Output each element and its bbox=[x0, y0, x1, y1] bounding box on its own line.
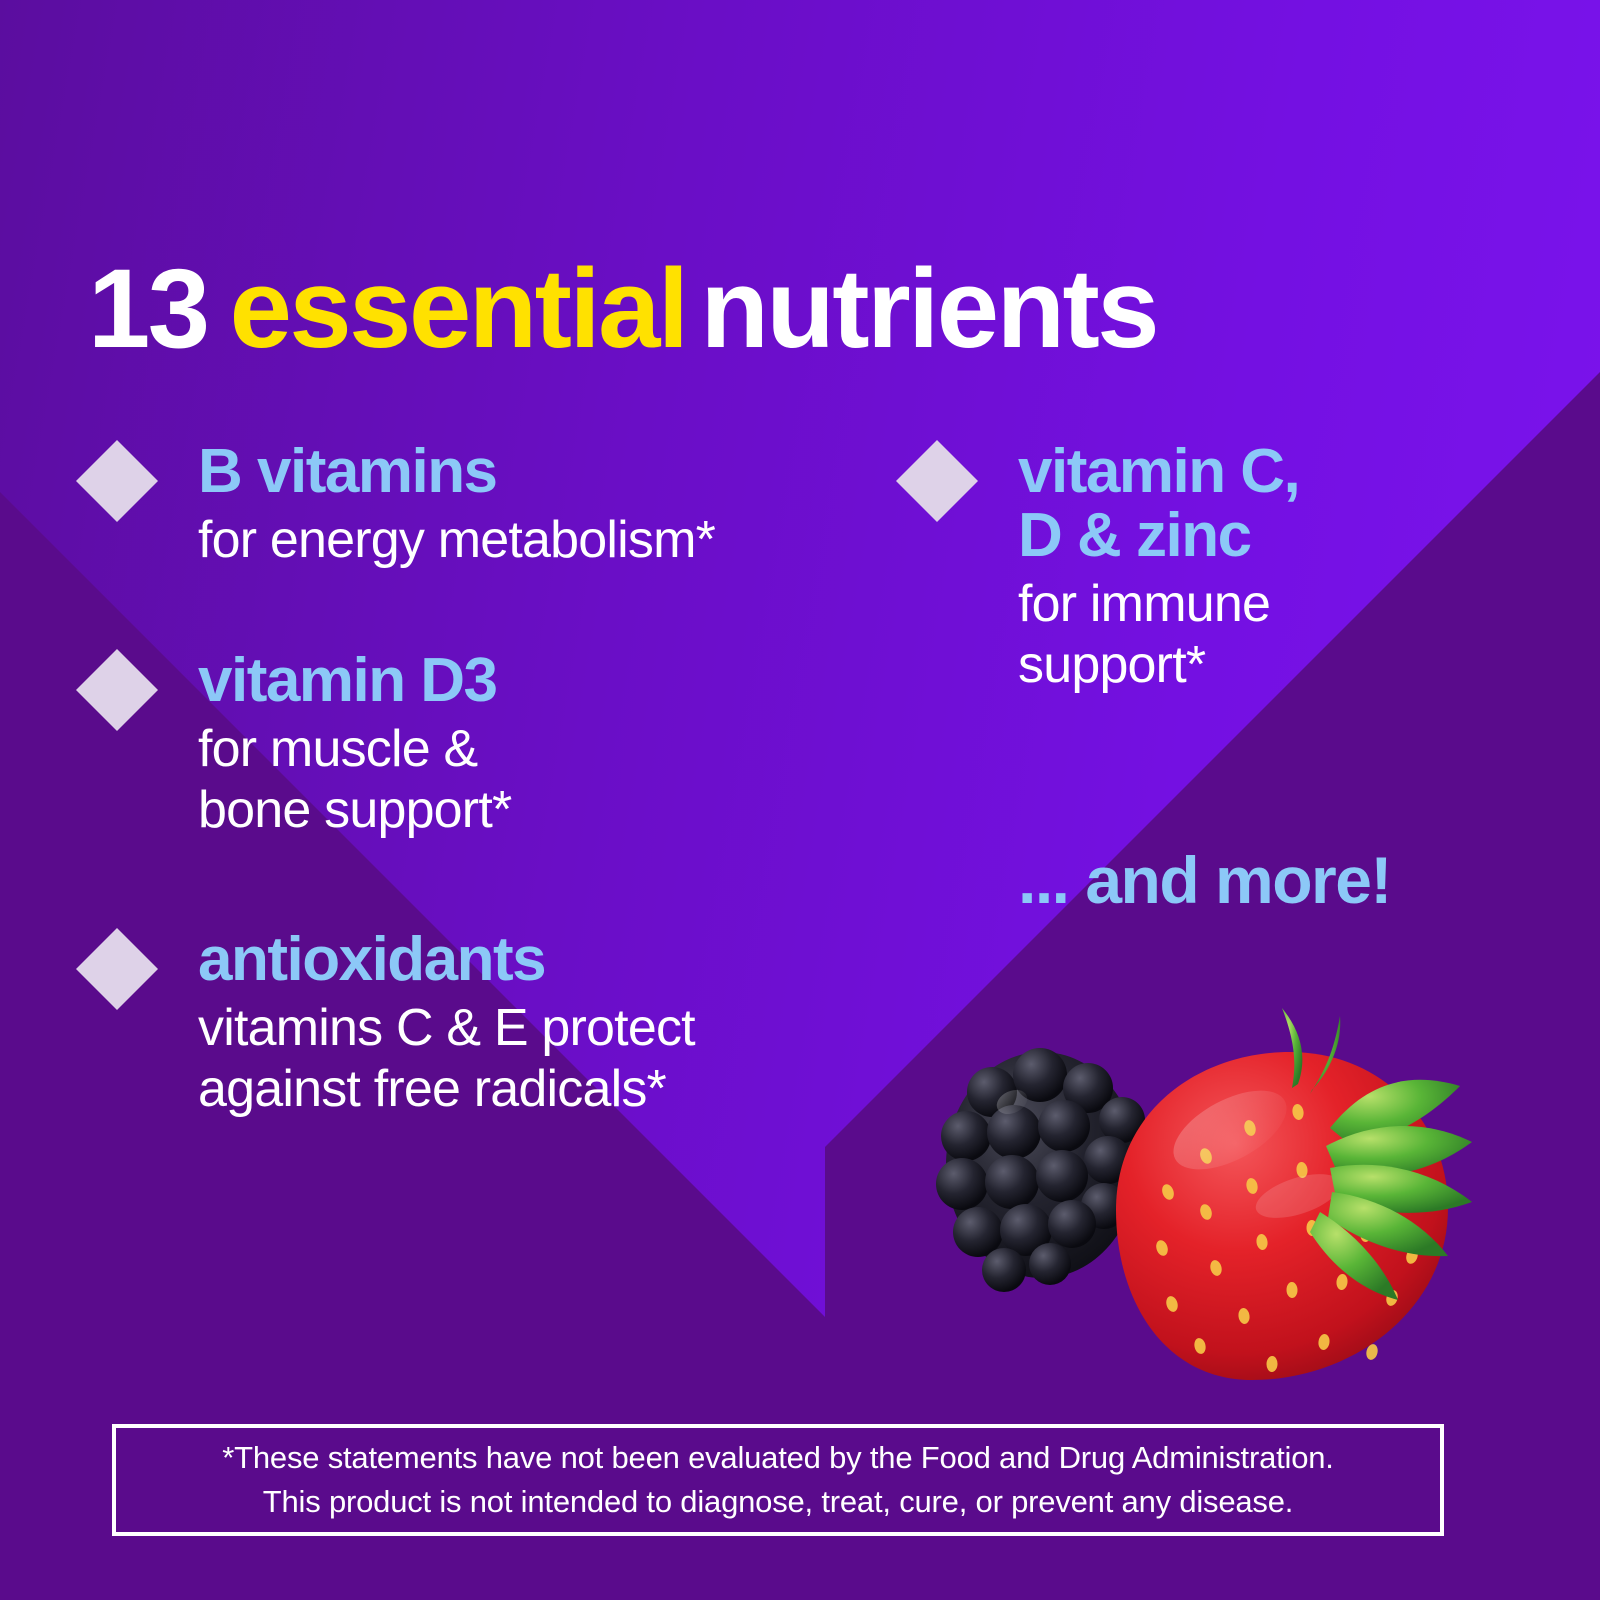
diamond-icon bbox=[76, 928, 158, 1010]
headline-emphasis: essential bbox=[230, 246, 687, 371]
list-item-antioxidants: antioxidants vitamins C & E protect agai… bbox=[80, 928, 880, 1121]
infographic-canvas: 13essentialnutrients B vitamins for ener… bbox=[0, 0, 1600, 1600]
nutrient-description: for immune support* bbox=[1018, 574, 1500, 697]
headline-count: 13 bbox=[88, 246, 208, 371]
list-item-vitamin-d3: vitamin D3 for muscle & bone support* bbox=[80, 649, 880, 842]
nutrient-title: vitamin D3 bbox=[198, 649, 880, 713]
list-item-b-vitamins: B vitamins for energy metabolism* bbox=[80, 440, 880, 571]
diamond-icon bbox=[76, 649, 158, 731]
disclaimer-box: *These statements have not been evaluate… bbox=[112, 1424, 1444, 1536]
headline-noun: nutrients bbox=[700, 246, 1157, 371]
page-title: 13essentialnutrients bbox=[88, 253, 1157, 365]
nutrient-description: vitamins C & E protect against free radi… bbox=[198, 998, 880, 1121]
nutrient-list-right: vitamin C, D & zinc for immune support* bbox=[900, 440, 1500, 696]
nutrient-list-left: B vitamins for energy metabolism* vitami… bbox=[80, 440, 880, 1120]
nutrient-description: for energy metabolism* bbox=[198, 510, 880, 571]
diamond-icon bbox=[76, 440, 158, 522]
nutrient-description: for muscle & bone support* bbox=[198, 719, 880, 842]
nutrient-title: antioxidants bbox=[198, 928, 880, 992]
nutrient-title: B vitamins bbox=[198, 440, 880, 504]
strawberry-icon bbox=[1116, 1008, 1472, 1380]
list-item-vitamin-c-d-zinc: vitamin C, D & zinc for immune support* bbox=[900, 440, 1500, 696]
and-more-label: ... and more! bbox=[1018, 842, 1391, 918]
diamond-icon bbox=[896, 440, 978, 522]
nutrient-title: vitamin C, D & zinc bbox=[1018, 440, 1500, 568]
fruit-illustration bbox=[900, 960, 1480, 1380]
blackberry-icon bbox=[936, 1048, 1145, 1292]
disclaimer-text: *These statements have not been evaluate… bbox=[222, 1436, 1333, 1524]
